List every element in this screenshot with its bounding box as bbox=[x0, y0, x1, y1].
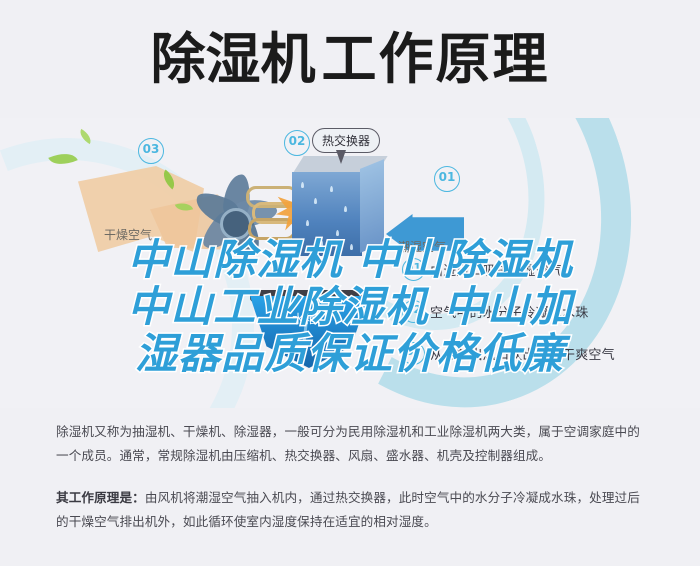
legend-label: 从上部出风口吹出清新干爽空气 bbox=[430, 344, 615, 363]
legend-number: 02 bbox=[402, 300, 425, 323]
title-band: 除湿机工作原理 bbox=[0, 0, 700, 122]
condensation-drop bbox=[330, 186, 333, 192]
legend-item: 03 从上部出风口吹出清新干爽空气 bbox=[402, 342, 700, 365]
legend-list: 01 由进风口吸进潮湿空气 02 空气中的水分子冷凝成水珠 03 从上部出风口吹… bbox=[402, 258, 700, 384]
heat-exchanger-unit bbox=[292, 156, 388, 266]
paragraph-principle-label: 其工作原理是： bbox=[56, 490, 145, 505]
article-body: 除湿机又称为抽湿机、干燥机、除湿器，一般可分为民用除湿机和工业除湿机两大类，属于… bbox=[56, 420, 652, 552]
heat-exchanger-fins bbox=[292, 172, 362, 256]
paragraph-definition: 除湿机又称为抽湿机、干燥机、除湿器，一般可分为民用除湿机和工业除湿机两大类，属于… bbox=[56, 420, 652, 468]
legend-number: 03 bbox=[402, 342, 425, 365]
condensation-drop bbox=[350, 244, 353, 250]
heat-exchanger-callout: 热交换器 bbox=[312, 128, 380, 153]
legend-label: 由进风口吸进潮湿空气 bbox=[430, 260, 562, 279]
condensation-drop bbox=[314, 198, 317, 204]
step-badge-02: 02 bbox=[284, 130, 310, 156]
step-badge-03: 03 bbox=[138, 138, 164, 164]
condensation-drop bbox=[344, 206, 347, 212]
dry-air-label: 干燥空气 bbox=[104, 226, 152, 243]
legend-item: 02 空气中的水分子冷凝成水珠 bbox=[402, 300, 700, 323]
water-tank-label: 水箱 bbox=[292, 310, 316, 327]
condensation-drop bbox=[336, 230, 339, 236]
article-page: 除湿机工作原理 干燥空气 bbox=[0, 0, 700, 566]
moist-air-label: 潮湿空气 bbox=[398, 238, 446, 255]
callout-tail bbox=[336, 150, 346, 164]
page-title: 除湿机工作原理 bbox=[0, 26, 700, 92]
legend-item: 01 由进风口吸进潮湿空气 bbox=[402, 258, 700, 281]
page-title-part-2: 工作原理 bbox=[322, 27, 550, 91]
condensation-drop bbox=[306, 220, 309, 226]
paragraph-principle: 其工作原理是：由风机将潮湿空气抽入机内，通过热交换器，此时空气中的水分子冷凝成水… bbox=[56, 486, 652, 534]
water-tank: 水箱 bbox=[250, 296, 368, 368]
step-badge-01: 01 bbox=[434, 166, 460, 192]
condensation-drop bbox=[320, 240, 323, 246]
heat-exchanger-side bbox=[360, 159, 384, 253]
condensation-drop bbox=[301, 182, 304, 188]
legend-label: 空气中的水分子冷凝成水珠 bbox=[430, 302, 588, 321]
legend-number: 01 bbox=[402, 258, 425, 281]
page-title-part-1: 除湿机 bbox=[150, 27, 315, 91]
